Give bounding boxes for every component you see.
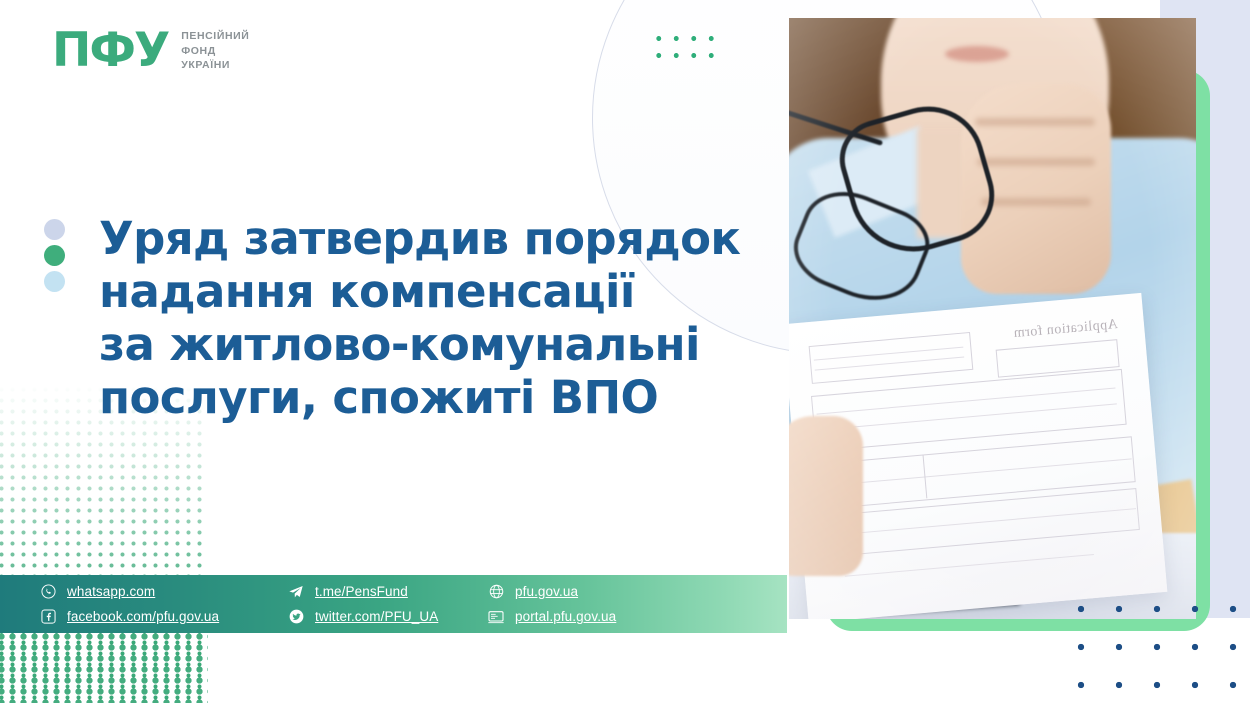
headline-line-4: послуги, спожиті ВПО	[99, 371, 739, 424]
logo-wordmark-line-3: УКРАЇНИ	[181, 58, 249, 73]
footer-link-label: t.me/PensFund	[315, 584, 408, 599]
footer-link-label: portal.pfu.gov.ua	[515, 609, 616, 624]
headline-line-1: Уряд затвердив порядок	[99, 212, 739, 265]
footer-link-twitter[interactable]: twitter.com/PFU_UA	[288, 609, 488, 625]
page-title: Уряд затвердив порядок надання компенсац…	[99, 212, 739, 424]
footer-link-telegram[interactable]: t.me/PensFund	[288, 584, 488, 600]
footer-links: whatsapp.com facebook.com/pfu.gov.ua t.m…	[0, 575, 787, 633]
footer-link-facebook[interactable]: facebook.com/pfu.gov.ua	[40, 609, 288, 625]
logo-wordmark: ПЕНСІЙНИЙ ФОНД УКРАЇНИ	[181, 29, 249, 73]
logo-mark-pfu: ПФУ	[52, 28, 168, 74]
telegram-icon	[288, 584, 304, 600]
twitter-icon	[288, 609, 304, 625]
headline-bullet-dots	[44, 219, 65, 292]
pfu-logo[interactable]: ПФУ ПЕНСІЙНИЙ ФОНД УКРАЇНИ	[52, 28, 249, 74]
photo-vignette	[789, 18, 1196, 619]
headline-line-2: надання компенсації	[99, 265, 739, 318]
dot-grid-top-decor	[650, 30, 722, 68]
logo-wordmark-line-1: ПЕНСІЙНИЙ	[181, 29, 249, 44]
facebook-icon	[40, 609, 56, 625]
footer-link-label: twitter.com/PFU_UA	[315, 609, 438, 624]
headline-line-3: за житлово-комунальні	[99, 318, 739, 371]
dot-grid-bottom-decor	[1062, 590, 1250, 700]
footer-column-2: t.me/PensFund twitter.com/PFU_UA	[288, 584, 488, 625]
footer-link-portal[interactable]: portal.pfu.gov.ua	[488, 609, 688, 625]
footer-link-whatsapp[interactable]: whatsapp.com	[40, 584, 288, 600]
footer-link-website[interactable]: pfu.gov.ua	[488, 584, 688, 600]
bullet-dot-green	[44, 245, 65, 266]
portal-icon	[488, 609, 504, 625]
footer-link-label: pfu.gov.ua	[515, 584, 578, 599]
footer-link-label: whatsapp.com	[67, 584, 155, 599]
hero-photo: Application form	[789, 18, 1196, 619]
footer-column-1: whatsapp.com facebook.com/pfu.gov.ua	[40, 584, 288, 625]
bullet-dot-blue	[44, 271, 65, 292]
footer-link-label: facebook.com/pfu.gov.ua	[67, 609, 219, 624]
globe-icon	[488, 584, 504, 600]
bullet-dot-lavender	[44, 219, 65, 240]
logo-wordmark-line-2: ФОНД	[181, 44, 249, 59]
footer-column-3: pfu.gov.ua portal.pfu.gov.ua	[488, 584, 688, 625]
whatsapp-icon	[40, 584, 56, 600]
poster-canvas: Application form ПФУ ПЕНСІЙНИЙ ФОНД УКРА…	[0, 0, 1250, 703]
